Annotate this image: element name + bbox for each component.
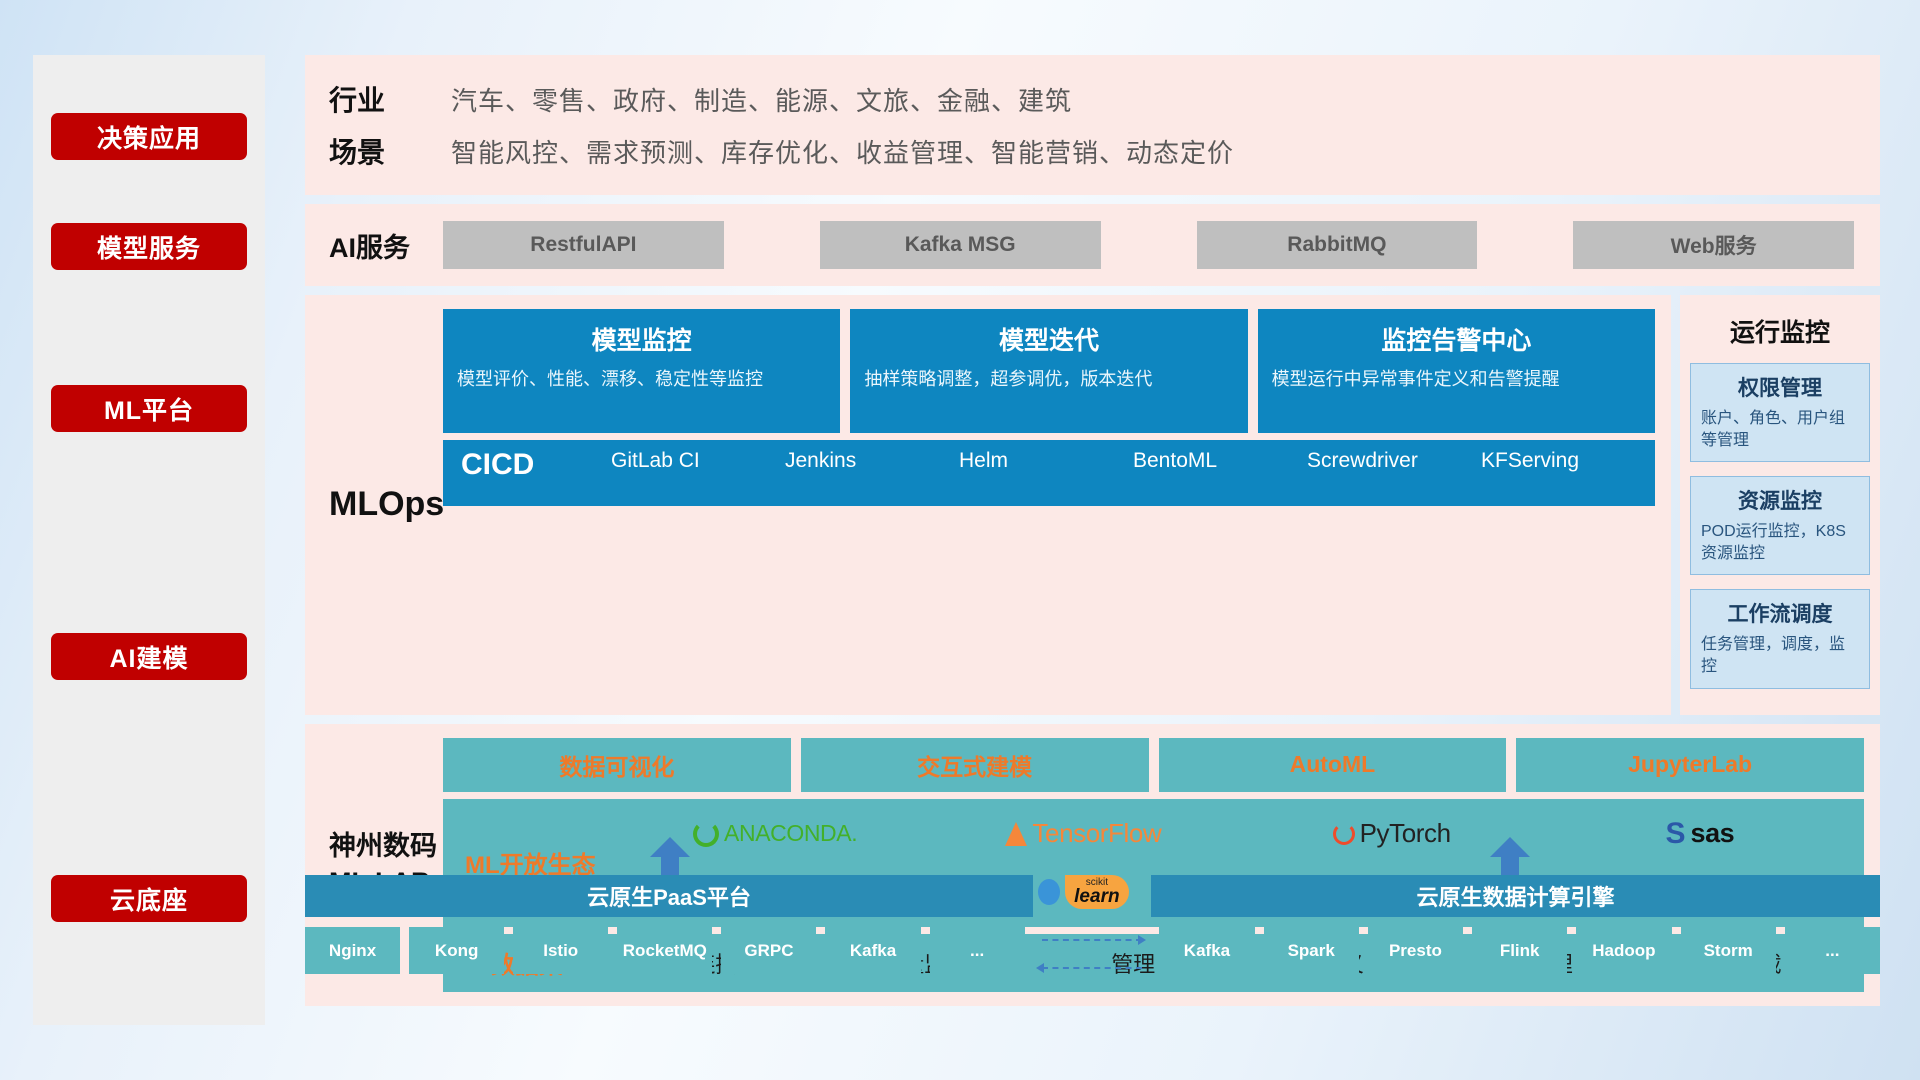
tool-data-visualization[interactable]: 数据可视化	[443, 738, 791, 792]
sas-swirl-icon: S	[1665, 817, 1685, 851]
runtime-monitor-panel: 运行监控 权限管理 账户、角色、用户组等管理 资源监控 POD运行监控，K8S资…	[1680, 295, 1880, 715]
ai-service-title: AI服务	[321, 226, 443, 265]
ai-service-band: AI服务 RestfulAPI Kafka MSG RabbitMQ Web服务	[305, 204, 1880, 286]
pytorch-logo: PyTorch	[1333, 818, 1451, 849]
ai-service-list: RestfulAPI Kafka MSG RabbitMQ Web服务	[443, 221, 1864, 269]
cicd-item-bentoml[interactable]: BentoML	[1133, 448, 1307, 474]
rail-item-model-service[interactable]: 模型服务	[51, 223, 247, 270]
main-content: 行业 汽车、零售、政府、制造、能源、文旅、金融、建筑 场景 智能风控、需求预测、…	[305, 55, 1880, 1006]
monitor-card-title: 工作流调度	[1701, 598, 1859, 628]
cicd-item-kfserving[interactable]: KFServing	[1481, 448, 1655, 474]
monitor-card-desc: POD运行监控，K8S资源监控	[1701, 521, 1859, 564]
monitor-card-desc: 任务管理，调度，监控	[1701, 634, 1859, 677]
paas-chip-more[interactable]: ...	[930, 927, 1025, 974]
monitor-card-desc: 账户、角色、用户组等管理	[1701, 408, 1859, 451]
left-rail: 决策应用 模型服务 ML平台 AI建模 云底座	[33, 55, 265, 1025]
engine-chip-presto[interactable]: Presto	[1368, 927, 1463, 974]
cloud-link-arrows	[1034, 927, 1151, 974]
monitor-card-permission[interactable]: 权限管理 账户、角色、用户组等管理	[1690, 363, 1870, 462]
mlops-card-title: 模型监控	[457, 321, 826, 357]
mlops-card-alert-center[interactable]: 监控告警中心 模型运行中异常事件定义和告警提醒	[1258, 309, 1655, 433]
dashed-arrow-right	[1042, 939, 1142, 941]
cicd-label: CICD	[461, 448, 611, 482]
anaconda-label: ANACONDA.	[724, 820, 857, 847]
mlops-card-model-monitoring[interactable]: 模型监控 模型评价、性能、漂移、稳定性等监控	[443, 309, 840, 433]
engine-chip-flink[interactable]: Flink	[1472, 927, 1567, 974]
runtime-monitor-title: 运行监控	[1690, 313, 1870, 349]
sas-label: sas	[1690, 818, 1734, 849]
mlops-card-desc: 模型评价、性能、漂移、稳定性等监控	[457, 367, 826, 391]
pytorch-label: PyTorch	[1360, 818, 1451, 849]
cicd-bar: CICD GitLab CI Jenkins Helm BentoML Scre…	[443, 440, 1655, 506]
mlops-title: MLOps	[321, 309, 443, 701]
cloud-base-zone: 云原生PaaS平台 云原生数据计算引擎 Nginx Kong Istio Roc…	[305, 875, 1880, 1035]
anaconda-logo: ANACONDA.	[693, 820, 857, 847]
monitor-card-workflow[interactable]: 工作流调度 任务管理，调度，监控	[1690, 589, 1870, 688]
tool-interactive-modeling[interactable]: 交互式建模	[801, 738, 1149, 792]
monitor-card-resource[interactable]: 资源监控 POD运行监控，K8S资源监控	[1690, 476, 1870, 575]
engine-chip-list: Kafka Spark Presto Flink Hadoop Storm ..…	[1159, 927, 1880, 974]
cicd-item-jenkins[interactable]: Jenkins	[785, 448, 959, 474]
paas-chip-grpc[interactable]: GRPC	[721, 927, 816, 974]
paas-chip-rocketmq[interactable]: RocketMQ	[617, 927, 712, 974]
ai-service-kafka-msg[interactable]: Kafka MSG	[820, 221, 1101, 269]
mlops-card-desc: 模型运行中异常事件定义和告警提醒	[1272, 367, 1641, 391]
scenario-row: 场景 智能风控、需求预测、库存优化、收益管理、智能营销、动态定价	[329, 125, 1864, 177]
engine-chip-kafka[interactable]: Kafka	[1159, 927, 1254, 974]
cloud-bar-row: 云原生PaaS平台 云原生数据计算引擎	[305, 875, 1880, 917]
pytorch-flame-icon	[1333, 823, 1355, 845]
sas-logo: S sas	[1665, 817, 1734, 851]
tensorflow-logo: TensorFlow	[1005, 818, 1161, 849]
mlops-card-model-iteration[interactable]: 模型迭代 抽样策略调整，超参调优，版本迭代	[850, 309, 1247, 433]
engine-chip-hadoop[interactable]: Hadoop	[1576, 927, 1671, 974]
mlops-card-list: 模型监控 模型评价、性能、漂移、稳定性等监控 模型迭代 抽样策略调整，超参调优，…	[443, 309, 1655, 433]
cloud-bar-spacer	[1033, 875, 1151, 917]
paas-chip-nginx[interactable]: Nginx	[305, 927, 400, 974]
mlops-band: MLOps 模型监控 模型评价、性能、漂移、稳定性等监控 模型迭代 抽样策略调整…	[305, 295, 1671, 715]
modeling-title-line1: 神州数码	[329, 829, 443, 864]
dashed-arrow-left	[1042, 967, 1142, 969]
rail-item-ml-platform[interactable]: ML平台	[51, 385, 247, 432]
paas-chip-list: Nginx Kong Istio RocketMQ GRPC Kafka ...	[305, 927, 1025, 974]
industry-value: 汽车、零售、政府、制造、能源、文旅、金融、建筑	[451, 81, 1072, 118]
mlops-card-title: 监控告警中心	[1272, 321, 1641, 357]
mlops-content: 模型监控 模型评价、性能、漂移、稳定性等监控 模型迭代 抽样策略调整，超参调优，…	[443, 309, 1655, 701]
industry-key: 行业	[329, 79, 451, 119]
cicd-item-list: GitLab CI Jenkins Helm BentoML Screwdriv…	[611, 448, 1655, 474]
ai-service-restfulapi[interactable]: RestfulAPI	[443, 221, 724, 269]
paas-chip-istio[interactable]: Istio	[513, 927, 608, 974]
tool-jupyterlab[interactable]: JupyterLab	[1516, 738, 1864, 792]
scenario-value: 智能风控、需求预测、库存优化、收益管理、智能营销、动态定价	[451, 133, 1234, 170]
paas-chip-kong[interactable]: Kong	[409, 927, 504, 974]
cicd-item-screwdriver[interactable]: Screwdriver	[1307, 448, 1481, 474]
mlops-card-title: 模型迭代	[864, 321, 1233, 357]
modeling-tool-row: 数据可视化 交互式建模 AutoML JupyterLab	[443, 738, 1864, 792]
mlops-card-desc: 抽样策略调整，超参调优，版本迭代	[864, 367, 1233, 391]
tensorflow-mark-icon	[1005, 822, 1027, 846]
ai-service-web[interactable]: Web服务	[1573, 221, 1854, 269]
engine-chip-more[interactable]: ...	[1785, 927, 1880, 974]
cloud-chip-row: Nginx Kong Istio RocketMQ GRPC Kafka ...…	[305, 927, 1880, 974]
rail-item-decision-app[interactable]: 决策应用	[51, 113, 247, 160]
industry-scenario-band: 行业 汽车、零售、政府、制造、能源、文旅、金融、建筑 场景 智能风控、需求预测、…	[305, 55, 1880, 195]
monitor-card-title: 权限管理	[1701, 372, 1859, 402]
rail-item-cloud-base[interactable]: 云底座	[51, 875, 247, 922]
cicd-item-helm[interactable]: Helm	[959, 448, 1133, 474]
tool-automl[interactable]: AutoML	[1159, 738, 1507, 792]
industry-row: 行业 汽车、零售、政府、制造、能源、文旅、金融、建筑	[329, 73, 1864, 125]
cicd-item-gitlab-ci[interactable]: GitLab CI	[611, 448, 785, 474]
paas-chip-kafka[interactable]: Kafka	[825, 927, 920, 974]
anaconda-ring-icon	[693, 821, 719, 847]
tensorflow-label: TensorFlow	[1032, 818, 1161, 849]
rail-item-ai-modeling[interactable]: AI建模	[51, 633, 247, 680]
cloud-paas-bar[interactable]: 云原生PaaS平台	[305, 875, 1033, 917]
ai-service-rabbitmq[interactable]: RabbitMQ	[1197, 221, 1478, 269]
mlops-row: MLOps 模型监控 模型评价、性能、漂移、稳定性等监控 模型迭代 抽样策略调整…	[305, 295, 1880, 715]
engine-chip-storm[interactable]: Storm	[1681, 927, 1776, 974]
cloud-engine-bar[interactable]: 云原生数据计算引擎	[1151, 875, 1880, 917]
scenario-key: 场景	[329, 131, 451, 171]
engine-chip-spark[interactable]: Spark	[1264, 927, 1359, 974]
monitor-card-title: 资源监控	[1701, 485, 1859, 515]
